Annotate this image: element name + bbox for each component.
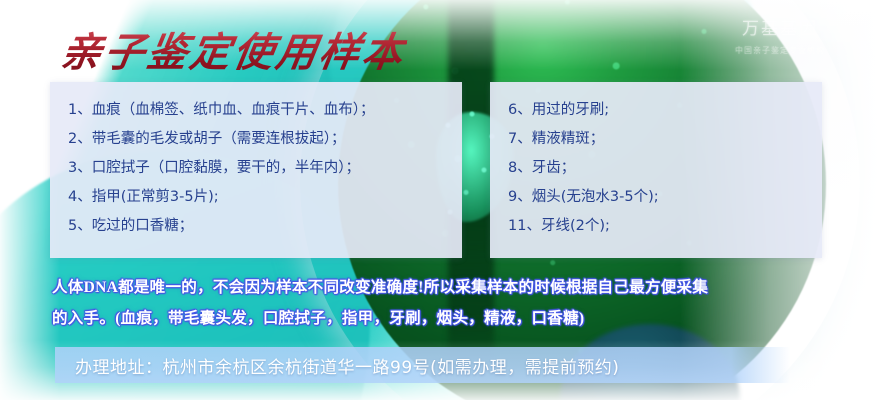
page-title: 亲子鉴定使用样本 bbox=[57, 20, 410, 78]
sample-list-left: 1、血痕（血棉签、纸巾血、血痕干片、血布）； 2、带毛囊的毛发或胡子（需要连根拔… bbox=[50, 82, 462, 241]
sample-list-panel-left: 1、血痕（血棉签、纸巾血、血痕干片、血布）； 2、带毛囊的毛发或胡子（需要连根拔… bbox=[50, 82, 462, 258]
note-line-2: 的入手。(血痕，带毛囊头发，口腔拭子，指甲，牙刷，烟头，精液，口香糖) bbox=[52, 303, 842, 334]
sample-list-panel-right: 6、用过的牙刷; 7、精液精斑； 8、牙齿； 9、烟头(无泡水3-5个); 11… bbox=[490, 82, 822, 258]
list-item: 7、精液精斑； bbox=[508, 125, 822, 154]
list-item: 6、用过的牙刷; bbox=[508, 96, 822, 125]
list-item: 1、血痕（血棉签、纸巾血、血痕干片、血布）； bbox=[68, 96, 462, 125]
list-item: 8、牙齿； bbox=[508, 154, 822, 183]
list-item: 3、口腔拭子（口腔黏膜，要干的，半年内）； bbox=[68, 154, 462, 183]
list-item: 9、烟头(无泡水3-5个); bbox=[508, 183, 822, 212]
sample-list-right: 6、用过的牙刷; 7、精液精斑； 8、牙齿； 9、烟头(无泡水3-5个); 11… bbox=[490, 82, 822, 241]
list-item: 2、带毛囊的毛发或胡子（需要连根拔起）； bbox=[68, 125, 462, 154]
watermark-sub-text: 中国亲子鉴定专业机构 bbox=[690, 40, 870, 62]
note-line-1: 人体DNA都是唯一的，不会因为样本不同改变准确度!所以采集样本的时候根据自己最方… bbox=[52, 272, 842, 303]
brand-watermark: 万基基因 中国亲子鉴定专业机构 bbox=[690, 18, 870, 64]
list-item: 4、指甲(正常剪3-5片); bbox=[68, 183, 462, 212]
note-paragraph: 人体DNA都是唯一的，不会因为样本不同改变准确度!所以采集样本的时候根据自己最方… bbox=[52, 272, 842, 334]
list-item: 5、吃过的口香糖； bbox=[68, 212, 462, 241]
watermark-main-text: 万基基因 bbox=[690, 18, 870, 40]
poster-canvas: 万基基因 中国亲子鉴定专业机构 亲子鉴定使用样本 1、血痕（血棉签、纸巾血、血痕… bbox=[0, 0, 880, 400]
list-item: 11、牙线(2个); bbox=[508, 212, 822, 241]
address-banner: 办理地址：杭州市余杭区余杭街道华一路99号(如需办理，需提前预约) bbox=[55, 347, 790, 383]
address-text: 办理地址：杭州市余杭区余杭街道华一路99号(如需办理，需提前预约) bbox=[55, 353, 619, 378]
